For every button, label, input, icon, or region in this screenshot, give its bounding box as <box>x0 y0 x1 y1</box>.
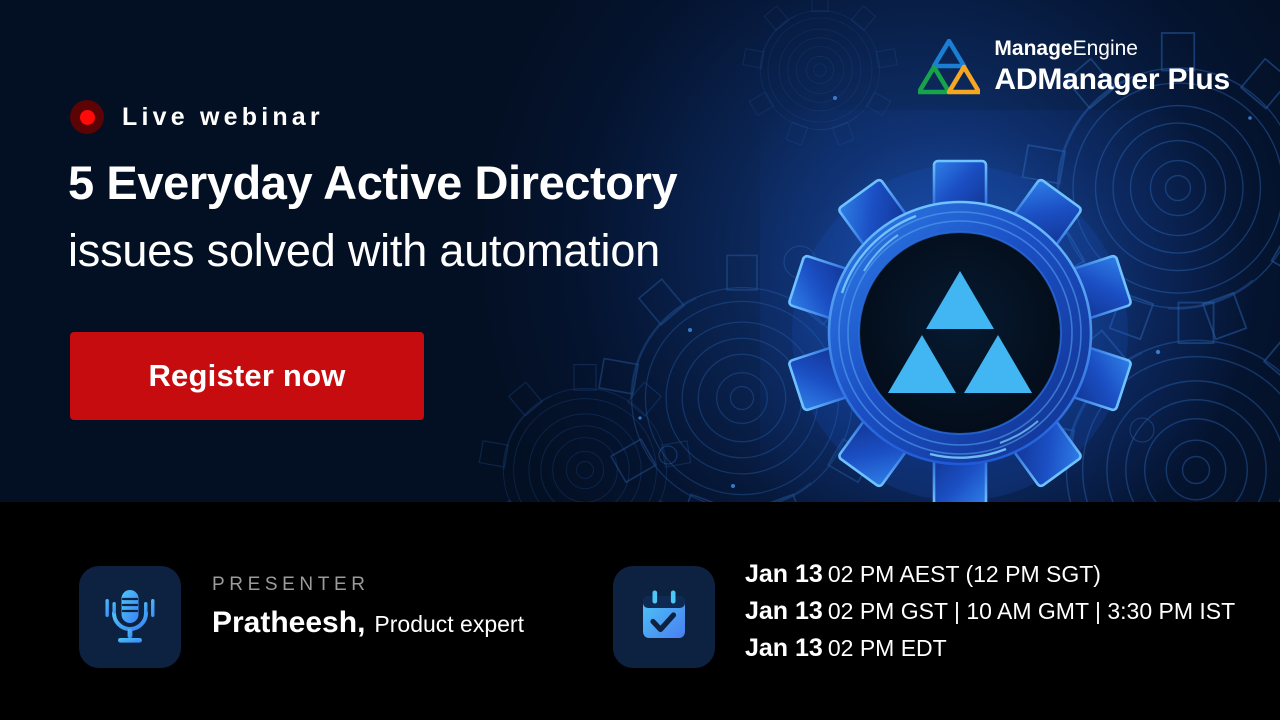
calendar-check-icon <box>636 589 692 645</box>
schedule-date: Jan 13 <box>745 634 823 662</box>
schedule-entry: Jan 1302 PM AEST (12 PM SGT) <box>745 560 1235 588</box>
triforce-triangles-icon <box>888 271 1032 393</box>
presenter-role: Product expert <box>374 611 524 638</box>
schedule-list: Jan 1302 PM AEST (12 PM SGT) Jan 1302 PM… <box>745 560 1235 671</box>
company-name-suffix: Engine <box>1073 37 1138 60</box>
hero-background-glow-secondary <box>760 110 1280 502</box>
product-name: ADManager Plus <box>994 65 1230 95</box>
manageengine-logo[interactable]: ManageEngine ADManager Plus <box>918 38 1230 95</box>
schedule-date: Jan 13 <box>745 597 823 625</box>
footer-section: PRESENTER Pratheesh, Product expert <box>0 502 1280 720</box>
manageengine-triangles-logo-icon <box>918 39 980 95</box>
company-name-prefix: Manage <box>994 37 1072 60</box>
schedule-date: Jan 13 <box>745 560 823 588</box>
presenter-info: PRESENTER Pratheesh, Product expert <box>212 574 524 640</box>
headline-line-2: issues solved with automation <box>68 225 660 277</box>
presenter-label: PRESENTER <box>212 574 524 596</box>
schedule-icon-tile <box>613 566 715 668</box>
microphone-icon <box>102 588 158 646</box>
live-webinar-badge: Live webinar <box>70 100 324 134</box>
schedule-times: 02 PM GST | 10 AM GMT | 3:30 PM IST <box>828 598 1235 624</box>
schedule-times: 02 PM AEST (12 PM SGT) <box>828 561 1101 587</box>
company-name: ManageEngine <box>994 38 1230 59</box>
live-record-dot-icon <box>70 100 104 134</box>
schedule-entry: Jan 1302 PM EDT <box>745 634 1235 662</box>
headline-line-1: 5 Everyday Active Directory <box>68 155 677 210</box>
presenter-name: Pratheesh, <box>212 606 365 640</box>
schedule-entry: Jan 1302 PM GST | 10 AM GMT | 3:30 PM IS… <box>745 597 1235 625</box>
hero-section: Live webinar 5 Everyday Active Directory… <box>0 0 1280 502</box>
presenter-icon-tile <box>79 566 181 668</box>
schedule-times: 02 PM EDT <box>828 635 947 661</box>
register-now-button[interactable]: Register now <box>70 332 424 420</box>
webinar-banner: Live webinar 5 Everyday Active Directory… <box>0 0 1280 720</box>
live-webinar-label: Live webinar <box>122 103 324 132</box>
